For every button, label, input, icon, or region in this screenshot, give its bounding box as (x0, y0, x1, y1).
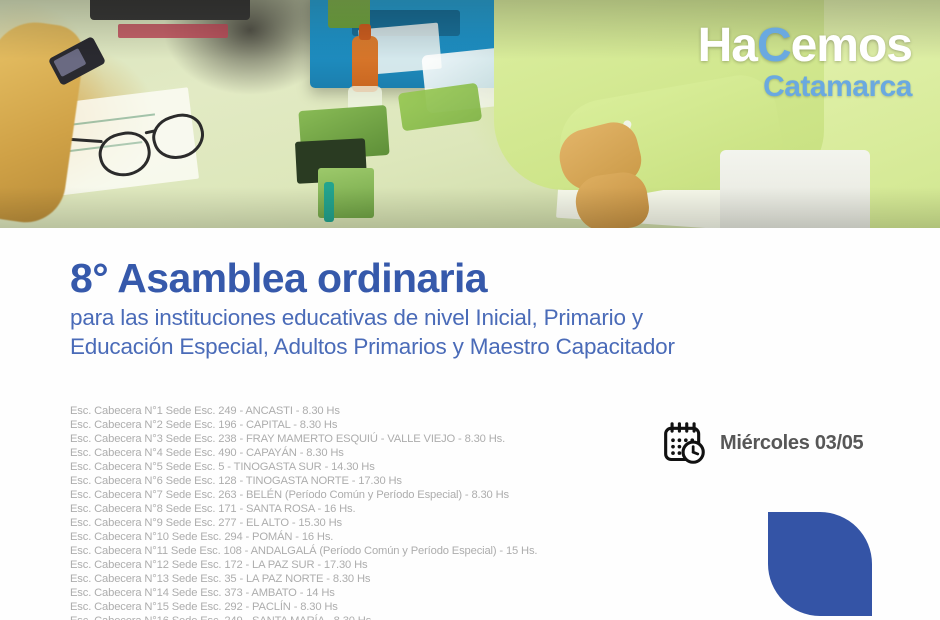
brand-logo-ha: Ha (698, 19, 757, 72)
brand-logo-c: C (757, 19, 791, 72)
brand-logo-main: HaCemos (698, 22, 912, 70)
list-item: Esc. Cabecera N°3 Sede Esc. 238 - FRAY M… (70, 432, 690, 446)
list-item: Esc. Cabecera N°16 Sede Esc. 249 - SANTA… (70, 614, 690, 620)
event-date: Miércoles 03/05 (662, 421, 863, 465)
calendar-clock-icon (662, 421, 706, 465)
page-title: 8° Asamblea ordinaria (70, 258, 487, 299)
list-item: Esc. Cabecera N°1 Sede Esc. 249 - ANCAST… (70, 404, 690, 418)
list-item: Esc. Cabecera N°9 Sede Esc. 277 - EL ALT… (70, 516, 690, 530)
list-item: Esc. Cabecera N°7 Sede Esc. 263 - BELÉN … (70, 488, 690, 502)
list-item: Esc. Cabecera N°2 Sede Esc. 196 - CAPITA… (70, 418, 690, 432)
event-date-label: Miércoles 03/05 (720, 432, 863, 455)
list-item: Esc. Cabecera N°10 Sede Esc. 294 - POMÁN… (70, 530, 690, 544)
hero-photo-banner: HaCemos Catamarca (0, 0, 940, 228)
list-item: Esc. Cabecera N°13 Sede Esc. 35 - LA PAZ… (70, 572, 690, 586)
list-item: Esc. Cabecera N°12 Sede Esc. 172 - LA PA… (70, 558, 690, 572)
brand-logo-subtitle: Catamarca (698, 72, 912, 102)
list-item: Esc. Cabecera N°8 Sede Esc. 171 - SANTA … (70, 502, 690, 516)
brand-logo-emos: emos (791, 19, 912, 72)
list-item: Esc. Cabecera N°4 Sede Esc. 490 - CAPAYÁ… (70, 446, 690, 460)
sede-list: Esc. Cabecera N°1 Sede Esc. 249 - ANCAST… (70, 404, 690, 620)
list-item: Esc. Cabecera N°15 Sede Esc. 292 - PACLÍ… (70, 600, 690, 614)
list-item: Esc. Cabecera N°14 Sede Esc. 373 - AMBAT… (70, 586, 690, 600)
page-subtitle-line-2: Educación Especial, Adultos Primarios y … (70, 333, 675, 362)
leaf-shape-accent (768, 512, 872, 616)
list-item: Esc. Cabecera N°11 Sede Esc. 108 - ANDAL… (70, 544, 690, 558)
list-item: Esc. Cabecera N°5 Sede Esc. 5 - TINOGAST… (70, 460, 690, 474)
page-subtitle-line-1: para las instituciones educativas de niv… (70, 304, 675, 333)
page-subtitle: para las instituciones educativas de niv… (70, 304, 675, 361)
list-item: Esc. Cabecera N°6 Sede Esc. 128 - TINOGA… (70, 474, 690, 488)
brand-logo: HaCemos Catamarca (698, 22, 912, 102)
poster-root: HaCemos Catamarca 8° Asamblea ordinaria … (0, 0, 940, 620)
